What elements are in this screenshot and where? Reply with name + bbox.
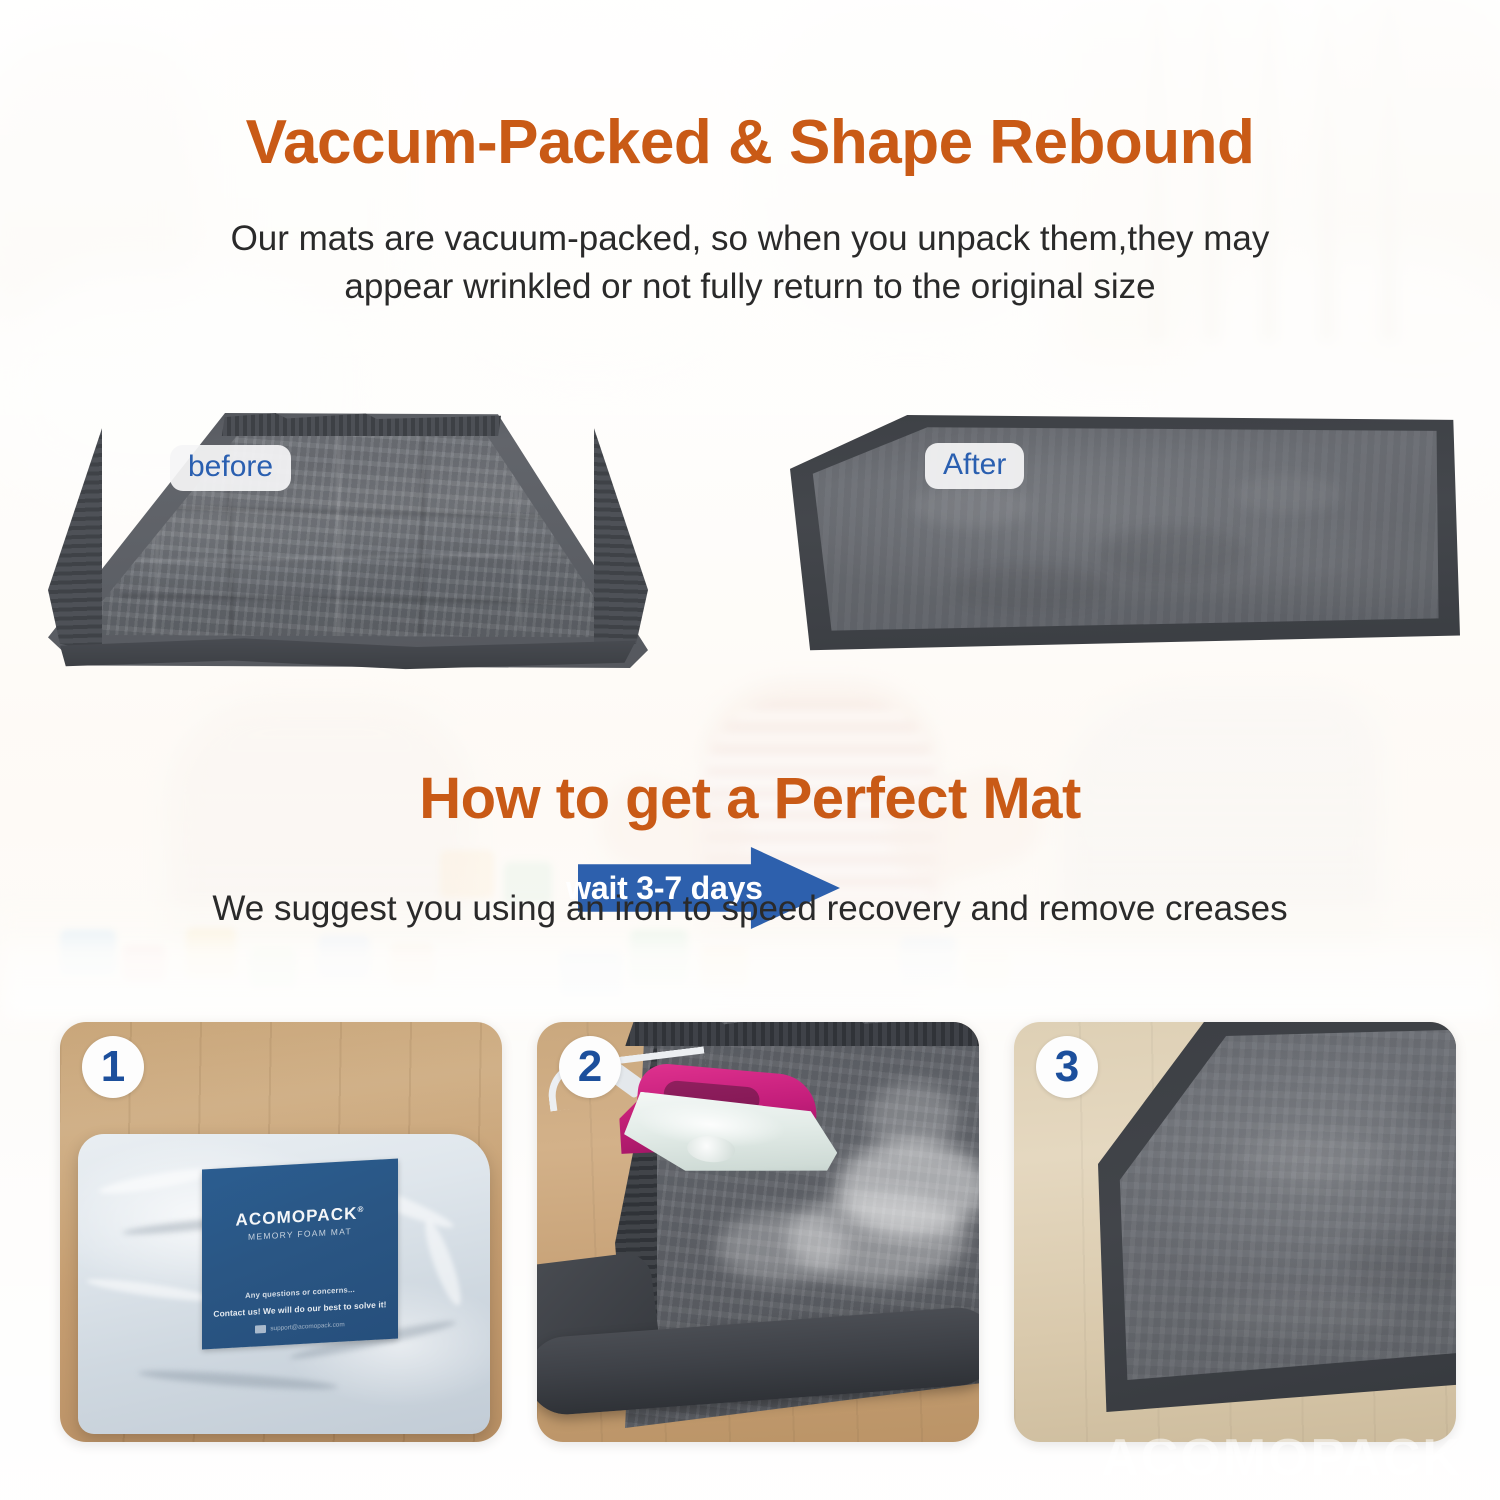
step3-sheen-4 — [1398, 1082, 1456, 1128]
section1-subtitle-line1: Our mats are vacuum-packed, so when you … — [110, 215, 1390, 263]
bag-wrinkle-1 — [98, 1164, 219, 1199]
clothes-iron — [621, 1065, 848, 1192]
support-contact: Contact us! We will do our best to solve… — [202, 1299, 398, 1320]
step-panel-1: ACOMOPACK® MEMORY FOAM MAT Any questions… — [60, 1022, 502, 1442]
support-email: support@acomopack.com — [270, 1321, 344, 1332]
step-number-badge-1: 1 — [82, 1036, 144, 1098]
section2-subtitle: We suggest you using an iron to speed re… — [40, 885, 1460, 933]
step3-sheen-2 — [1348, 1232, 1456, 1288]
steam-cloud-3 — [717, 1212, 847, 1282]
mat-crease-4 — [418, 436, 425, 635]
mat-before-edge-right — [594, 428, 648, 652]
mat-after-sheen-4 — [951, 567, 1111, 609]
bag-wrinkle-3 — [86, 1275, 216, 1305]
support-email-row: support@acomopack.com — [202, 1318, 398, 1337]
trademark-icon: ® — [357, 1205, 364, 1214]
iron-temperature-dial — [686, 1134, 736, 1164]
section1-subtitle-line2: appear wrinkled or not fully return to t… — [110, 263, 1390, 311]
mat-after-image — [790, 415, 1460, 660]
section1-title: Vaccum-Packed & Shape Rebound — [0, 112, 1500, 174]
step-number-badge-3: 3 — [1036, 1036, 1098, 1098]
step2-mat-edge-top — [617, 1022, 979, 1046]
steam-cloud-4 — [867, 1082, 957, 1152]
vacuum-packed-bag: ACOMOPACK® MEMORY FOAM MAT Any questions… — [78, 1134, 490, 1434]
mat-before-image — [48, 413, 648, 668]
mat-after-sheen-3 — [1232, 474, 1342, 514]
step-number-badge-2: 2 — [559, 1036, 621, 1098]
mat-before-edge-left — [48, 428, 102, 652]
bag-wrinkle-6 — [138, 1367, 338, 1393]
before-badge: before — [170, 445, 291, 491]
product-label: ACOMOPACK® MEMORY FOAM MAT Any questions… — [202, 1159, 398, 1350]
envelope-icon — [255, 1325, 266, 1334]
mat-after-sheen-2 — [1098, 528, 1248, 578]
step-panel-2: 2 — [537, 1022, 979, 1442]
mat-after-sheen-1 — [911, 484, 1031, 528]
steps-gallery: ACOMOPACK® MEMORY FOAM MAT Any questions… — [0, 1022, 1500, 1442]
bag-wrinkle-7 — [419, 1218, 467, 1309]
step-panel-3: 3 — [1014, 1022, 1456, 1442]
before-after-comparison: wait 3-7 days — [0, 395, 1500, 685]
mat-crease-3 — [336, 428, 341, 642]
section1-subtitle: Our mats are vacuum-packed, so when you … — [110, 215, 1390, 312]
step3-sheen-1 — [1238, 1132, 1388, 1182]
mat-crease-8 — [120, 593, 576, 603]
step3-sheen-3 — [1208, 1292, 1398, 1336]
after-badge: After — [925, 443, 1024, 489]
brand-text: ACOMOPACK — [236, 1204, 358, 1230]
section2-title: How to get a Perfect Mat — [0, 770, 1500, 828]
